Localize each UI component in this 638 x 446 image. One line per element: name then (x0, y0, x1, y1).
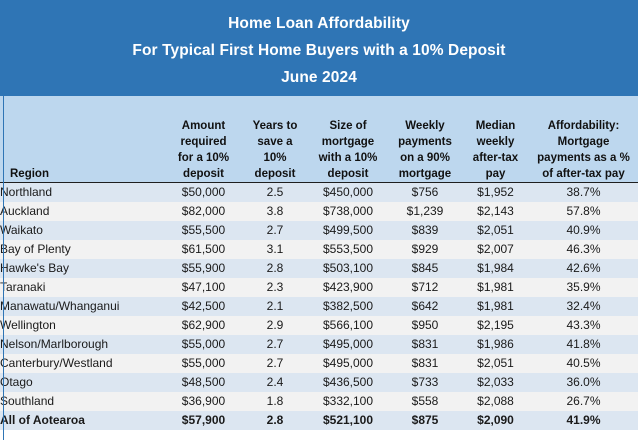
cell-mortgage-size: $450,000 (308, 182, 388, 202)
total-cell-amount-required: $57,900 (165, 411, 242, 430)
cell-median-pay: $1,981 (462, 297, 529, 316)
cell-years-to-save: 2.7 (242, 354, 308, 373)
table-row: Canterbury/Westland$55,0002.7$495,000$83… (0, 354, 638, 373)
cell-affordability: 43.3% (529, 316, 638, 335)
header-line: deposit (167, 166, 240, 182)
cell-weekly-payments: $839 (388, 221, 462, 240)
cell-median-pay: $2,051 (462, 221, 529, 240)
cell-affordability: 40.9% (529, 221, 638, 240)
cell-years-to-save: 3.8 (242, 202, 308, 221)
cell-mortgage-size: $553,500 (308, 240, 388, 259)
cell-region: Hawke's Bay (0, 259, 165, 278)
cell-region: Waikato (0, 221, 165, 240)
cell-affordability: 26.7% (529, 392, 638, 411)
cell-amount-required: $55,000 (165, 354, 242, 373)
cell-amount-required: $42,500 (165, 297, 242, 316)
header-line: required (167, 134, 240, 150)
cell-amount-required: $55,000 (165, 335, 242, 354)
column-header-mortgage-size: Size of mortgage with a 10% deposit (308, 96, 388, 182)
cell-weekly-payments: $558 (388, 392, 462, 411)
cell-affordability: 40.5% (529, 354, 638, 373)
cell-median-pay: $2,007 (462, 240, 529, 259)
cell-weekly-payments: $642 (388, 297, 462, 316)
title-line-3: June 2024 (0, 64, 638, 91)
cell-region: Otago (0, 373, 165, 392)
cell-years-to-save: 3.1 (242, 240, 308, 259)
header-line: on a 90% (390, 150, 460, 166)
header-line: mortgage (390, 166, 460, 182)
header-line: with a 10% (310, 150, 386, 166)
header-line: Median (464, 118, 527, 134)
cell-median-pay: $2,051 (462, 354, 529, 373)
header-line: of after-tax pay (531, 166, 636, 182)
cell-weekly-payments: $929 (388, 240, 462, 259)
title-banner: Home Loan Affordability For Typical Firs… (0, 0, 638, 96)
cell-region: Southland (0, 392, 165, 411)
bottom-spacer (0, 430, 638, 436)
table-row: Waikato$55,5002.7$499,500$839$2,05140.9% (0, 221, 638, 240)
cell-region: Canterbury/Westland (0, 354, 165, 373)
header-line: pay (464, 166, 527, 182)
total-cell-weekly-payments: $875 (388, 411, 462, 430)
cell-region: Manawatu/Whanganui (0, 297, 165, 316)
column-header-affordability: Affordability: Mortgage payments as a % … (529, 96, 638, 182)
cell-weekly-payments: $733 (388, 373, 462, 392)
total-cell-years-to-save: 2.8 (242, 411, 308, 430)
table-row: Taranaki$47,1002.3$423,900$712$1,98135.9… (0, 278, 638, 297)
cell-median-pay: $2,088 (462, 392, 529, 411)
cell-mortgage-size: $436,500 (308, 373, 388, 392)
total-cell-median-pay: $2,090 (462, 411, 529, 430)
header-line: deposit (244, 166, 306, 182)
cell-amount-required: $62,900 (165, 316, 242, 335)
region-column-rule (3, 96, 4, 440)
cell-years-to-save: 2.7 (242, 221, 308, 240)
column-header-region: Region (0, 96, 165, 182)
table-row: Nelson/Marlborough$55,0002.7$495,000$831… (0, 335, 638, 354)
table-row: Otago$48,5002.4$436,500$733$2,03336.0% (0, 373, 638, 392)
table-header: Region Amount required for a 10% deposit… (0, 96, 638, 182)
cell-median-pay: $1,986 (462, 335, 529, 354)
cell-affordability: 41.8% (529, 335, 638, 354)
cell-mortgage-size: $566,100 (308, 316, 388, 335)
cell-mortgage-size: $423,900 (308, 278, 388, 297)
cell-weekly-payments: $831 (388, 335, 462, 354)
cell-median-pay: $2,143 (462, 202, 529, 221)
cell-mortgage-size: $495,000 (308, 354, 388, 373)
cell-region: Taranaki (0, 278, 165, 297)
header-line: deposit (310, 166, 386, 182)
cell-amount-required: $36,900 (165, 392, 242, 411)
cell-affordability: 38.7% (529, 182, 638, 202)
cell-amount-required: $55,500 (165, 221, 242, 240)
header-line: weekly (464, 134, 527, 150)
table-body: Northland$50,0002.5$450,000$756$1,95238.… (0, 182, 638, 430)
cell-amount-required: $55,900 (165, 259, 242, 278)
cell-years-to-save: 2.1 (242, 297, 308, 316)
cell-mortgage-size: $382,500 (308, 297, 388, 316)
cell-years-to-save: 2.3 (242, 278, 308, 297)
cell-median-pay: $1,981 (462, 278, 529, 297)
title-line-1: Home Loan Affordability (0, 10, 638, 37)
cell-region: Nelson/Marlborough (0, 335, 165, 354)
cell-years-to-save: 1.8 (242, 392, 308, 411)
cell-weekly-payments: $845 (388, 259, 462, 278)
header-row: Region Amount required for a 10% deposit… (0, 96, 638, 182)
header-line: mortgage (310, 134, 386, 150)
cell-mortgage-size: $495,000 (308, 335, 388, 354)
cell-mortgage-size: $738,000 (308, 202, 388, 221)
cell-years-to-save: 2.8 (242, 259, 308, 278)
header-line: Amount (167, 118, 240, 134)
table-row: Southland$36,9001.8$332,100$558$2,08826.… (0, 392, 638, 411)
column-header-median-pay: Median weekly after-tax pay (462, 96, 529, 182)
cell-years-to-save: 2.9 (242, 316, 308, 335)
cell-years-to-save: 2.7 (242, 335, 308, 354)
table-row: Auckland$82,0003.8$738,000$1,239$2,14357… (0, 202, 638, 221)
cell-region: Auckland (0, 202, 165, 221)
table-row: Manawatu/Whanganui$42,5002.1$382,500$642… (0, 297, 638, 316)
cell-median-pay: $2,033 (462, 373, 529, 392)
affordability-table: Region Amount required for a 10% deposit… (0, 96, 638, 430)
header-line: 10% (244, 150, 306, 166)
column-header-years-to-save: Years to save a 10% deposit (242, 96, 308, 182)
cell-affordability: 36.0% (529, 373, 638, 392)
column-header-amount-required: Amount required for a 10% deposit (165, 96, 242, 182)
header-line: Years to (244, 118, 306, 134)
header-line: payments as a % (531, 150, 636, 166)
cell-region: Northland (0, 182, 165, 202)
cell-amount-required: $50,000 (165, 182, 242, 202)
cell-region: Bay of Plenty (0, 240, 165, 259)
table-row: Bay of Plenty$61,5003.1$553,500$929$2,00… (0, 240, 638, 259)
header-line: Affordability: (531, 118, 636, 134)
total-cell-affordability: 41.9% (529, 411, 638, 430)
cell-amount-required: $82,000 (165, 202, 242, 221)
total-cell-region: All of Aotearoa (0, 411, 165, 430)
header-line: save a (244, 134, 306, 150)
cell-affordability: 46.3% (529, 240, 638, 259)
cell-affordability: 35.9% (529, 278, 638, 297)
header-line: payments (390, 134, 460, 150)
cell-amount-required: $48,500 (165, 373, 242, 392)
cell-median-pay: $1,952 (462, 182, 529, 202)
cell-affordability: 57.8% (529, 202, 638, 221)
header-line: for a 10% (167, 150, 240, 166)
table-row: Wellington$62,9002.9$566,100$950$2,19543… (0, 316, 638, 335)
cell-region: Wellington (0, 316, 165, 335)
cell-weekly-payments: $756 (388, 182, 462, 202)
header-line: Size of (310, 118, 386, 134)
table-row: Northland$50,0002.5$450,000$756$1,95238.… (0, 182, 638, 202)
cell-mortgage-size: $503,100 (308, 259, 388, 278)
total-cell-mortgage-size: $521,100 (308, 411, 388, 430)
title-line-2: For Typical First Home Buyers with a 10%… (0, 37, 638, 64)
cell-amount-required: $47,100 (165, 278, 242, 297)
header-line: after-tax (464, 150, 527, 166)
cell-affordability: 32.4% (529, 297, 638, 316)
column-header-weekly-payments: Weekly payments on a 90% mortgage (388, 96, 462, 182)
table-row: Hawke's Bay$55,9002.8$503,100$845$1,9844… (0, 259, 638, 278)
header-line: Mortgage (531, 134, 636, 150)
cell-median-pay: $2,195 (462, 316, 529, 335)
header-line: Weekly (390, 118, 460, 134)
cell-years-to-save: 2.5 (242, 182, 308, 202)
cell-weekly-payments: $1,239 (388, 202, 462, 221)
cell-amount-required: $61,500 (165, 240, 242, 259)
cell-median-pay: $1,984 (462, 259, 529, 278)
table-total-row: All of Aotearoa$57,9002.8$521,100$875$2,… (0, 411, 638, 430)
cell-weekly-payments: $950 (388, 316, 462, 335)
cell-mortgage-size: $499,500 (308, 221, 388, 240)
cell-years-to-save: 2.4 (242, 373, 308, 392)
cell-affordability: 42.6% (529, 259, 638, 278)
affordability-table-page: Home Loan Affordability For Typical Firs… (0, 0, 638, 446)
cell-mortgage-size: $332,100 (308, 392, 388, 411)
cell-weekly-payments: $831 (388, 354, 462, 373)
cell-weekly-payments: $712 (388, 278, 462, 297)
